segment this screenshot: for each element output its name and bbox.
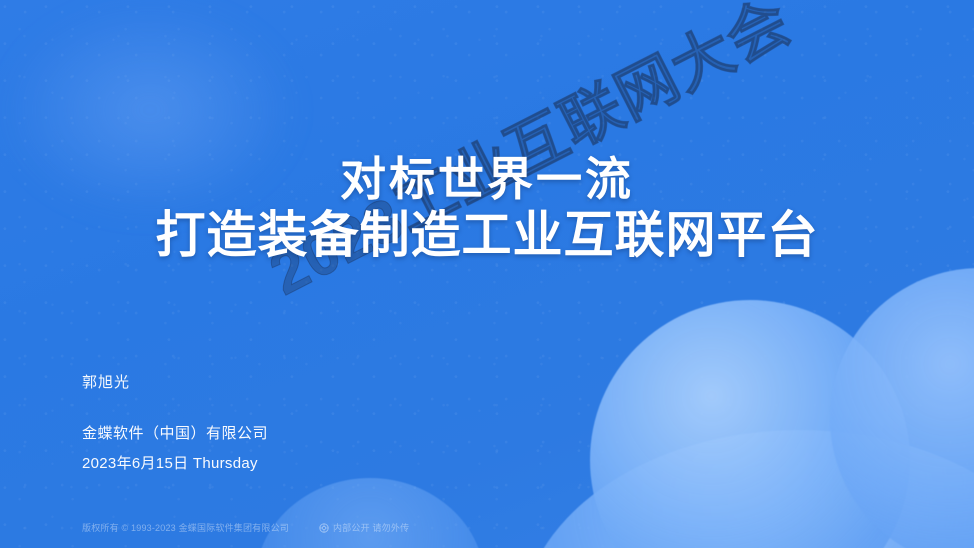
cloud-glow <box>0 0 300 220</box>
confidentiality-label: 内部公开 请勿外传 <box>333 522 409 534</box>
copyright-notice: 版权所有 © 1993-2023 金蝶国际软件集团有限公司 <box>82 522 289 534</box>
speaker-date: 2023年6月15日 Thursday <box>82 453 268 475</box>
slide-footer: 版权所有 © 1993-2023 金蝶国际软件集团有限公司 内部公开 请勿外传 <box>82 522 409 534</box>
shield-badge-icon <box>319 523 329 533</box>
speaker-company: 金蝶软件（中国）有限公司 <box>82 423 268 445</box>
presentation-slide: 2023工业互联网大会 对标世界一流 打造装备制造工业互联网平台 郭旭光 金蝶软… <box>0 0 974 548</box>
speaker-info: 郭旭光 金蝶软件（中国）有限公司 2023年6月15日 Thursday <box>82 372 268 475</box>
speaker-name: 郭旭光 <box>82 372 268 394</box>
confidentiality-notice: 内部公开 请勿外传 <box>319 522 409 534</box>
